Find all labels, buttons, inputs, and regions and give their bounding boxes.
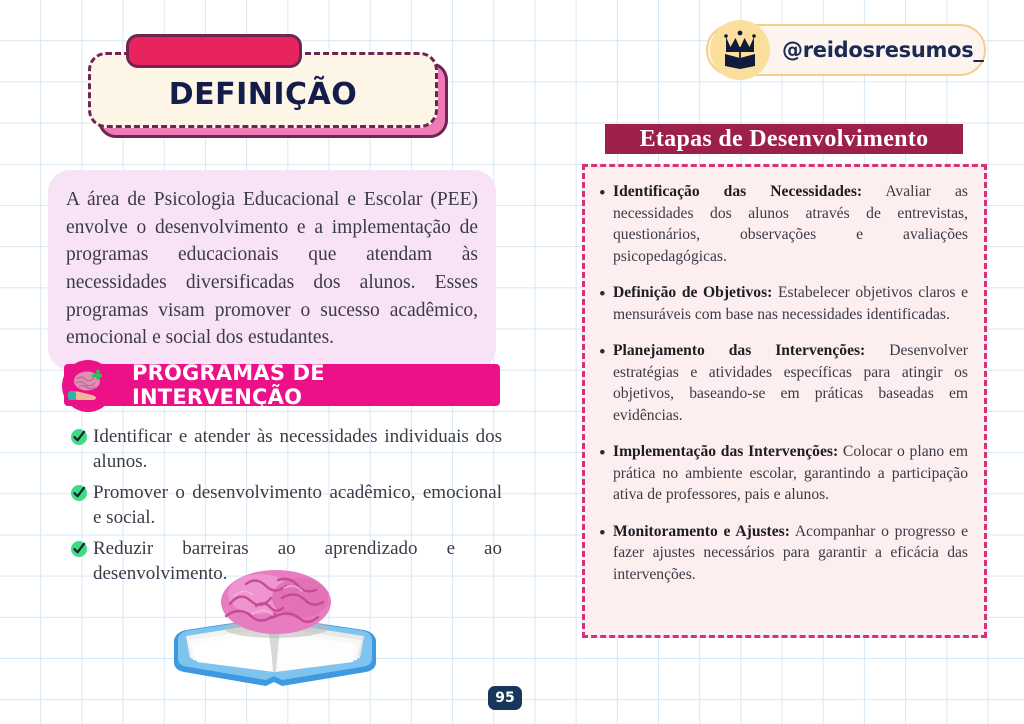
steps-header-bar: Etapas de Desenvolvimento	[605, 124, 963, 154]
definition-paragraph: A área de Psicologia Educacional e Escol…	[66, 186, 478, 352]
programs-banner-label: PROGRAMAS DE INTERVENÇÃO	[132, 361, 500, 409]
step-term: Monitoramento e Ajustes:	[613, 523, 790, 540]
list-item: • Monitoramento e Ajustes: Acompanhar o …	[599, 521, 968, 586]
definition-text-box: A área de Psicologia Educacional e Escol…	[48, 170, 496, 370]
step-term: Implementação das Intervenções:	[613, 443, 838, 460]
list-item: • Implementação das Intervenções: Coloca…	[599, 441, 968, 506]
page-number-text: 95	[495, 690, 514, 706]
bullet-icon: •	[599, 521, 613, 546]
brand-handle-text: @reidosresumos_	[782, 38, 984, 62]
list-item: • Definição de Objetivos: Estabelecer ob…	[599, 282, 968, 325]
green-check-circle-icon	[70, 540, 88, 563]
step-text: Implementação das Intervenções: Colocar …	[613, 441, 968, 506]
page-number-badge: 95	[488, 686, 522, 710]
bullet-icon: •	[599, 282, 613, 307]
list-item: Promover o desenvolvimento acadêmico, em…	[70, 480, 502, 530]
steps-header-label: Etapas de Desenvolvimento	[640, 126, 929, 153]
list-item: Identificar e atender às necessidades in…	[70, 424, 502, 474]
programs-banner: PROGRAMAS DE INTERVENÇÃO	[64, 364, 500, 406]
crown-over-book-icon	[710, 20, 770, 80]
steps-panel: • Identificação das Necessidades: Avalia…	[582, 164, 987, 638]
definition-title-text: DEFINIÇÃO	[169, 77, 358, 112]
step-term: Definição de Objetivos:	[613, 284, 772, 301]
bullet-icon: •	[599, 441, 613, 466]
list-item: • Planejamento das Intervenções: Desenvo…	[599, 340, 968, 426]
step-term: Identificação das Necessidades:	[613, 183, 862, 200]
bullet-icon: •	[599, 181, 613, 206]
step-text: Planejamento das Intervenções: Desenvolv…	[613, 340, 968, 426]
step-text: Definição de Objetivos: Estabelecer obje…	[613, 282, 968, 325]
bullet-icon: •	[599, 340, 613, 365]
list-item: • Identificação das Necessidades: Avalia…	[599, 181, 968, 267]
definition-card-tab	[126, 34, 302, 68]
checklist-item-text: Promover o desenvolvimento acadêmico, em…	[93, 480, 502, 530]
pink-brain-on-open-book-illustration	[160, 566, 390, 702]
definition-title-card: DEFINIÇÃO	[88, 52, 448, 138]
checklist-item-text: Identificar e atender às necessidades in…	[93, 424, 502, 474]
green-check-circle-icon	[70, 428, 88, 451]
green-check-circle-icon	[70, 484, 88, 507]
step-text: Identificação das Necessidades: Avaliar …	[613, 181, 968, 267]
hand-holding-brain-icon	[62, 360, 114, 412]
step-term: Planejamento das Intervenções:	[613, 342, 865, 359]
step-text: Monitoramento e Ajustes: Acompanhar o pr…	[613, 521, 968, 586]
